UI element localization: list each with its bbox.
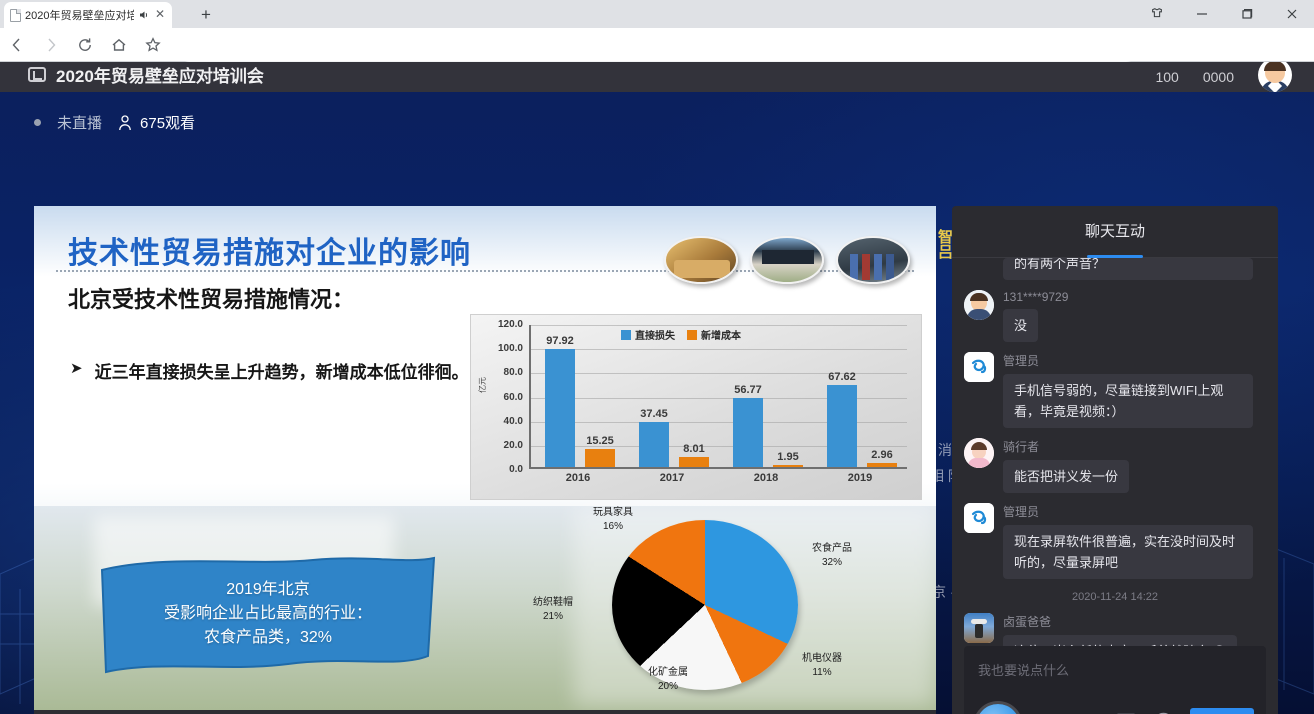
- bar-chart-group: 56.771.952018: [719, 325, 813, 467]
- browser-chrome: 2020年贸易壁垒应对培训会 ✕ +: [0, 0, 1314, 62]
- slide-photo-ovals: [664, 236, 910, 284]
- chat-title: 聊天互动: [952, 220, 1278, 241]
- chat-message-text: 这位，崔主任的声音，听着就踏实 😁: [1003, 635, 1237, 646]
- bar-chart-xtick: 2018: [719, 472, 813, 484]
- bar-value-label: 2.96: [871, 449, 892, 461]
- viewer-count-label: 675观看: [140, 112, 195, 133]
- pie-slice-name: 机电仪器: [776, 652, 868, 666]
- tab-close-icon[interactable]: ✕: [154, 9, 166, 21]
- minimize-button[interactable]: [1179, 0, 1224, 28]
- pie-slice-value: 21%: [510, 610, 596, 624]
- legend-item: 新增成本: [687, 327, 741, 342]
- background-badge: 智吕: [938, 230, 953, 260]
- bar-chart-bar: 37.45: [639, 422, 669, 467]
- chat-message-body: 管理员手机信号弱的，尽量链接到WIFI上观看，毕竟是视频：）: [1003, 352, 1266, 428]
- star-icon[interactable]: [136, 28, 170, 62]
- site-nav-brand[interactable]: 2020年贸易壁垒应对培训会: [28, 62, 264, 87]
- browser-toolbar: https://live.eyunbo.cn/live/53572?uin=17…: [0, 28, 1314, 62]
- bar-chart-xtick: 2017: [625, 472, 719, 484]
- pie-slice-label: 纺织鞋帽21%: [510, 596, 596, 624]
- chat-message-author: 131****9729: [1003, 290, 1266, 304]
- pie-slice-label: 机电仪器11%: [776, 652, 868, 680]
- chat-message-author: 管理员: [1003, 352, 1266, 369]
- bar-chart-ytick: 0.0: [483, 464, 523, 475]
- pie-slice-value: 20%: [622, 680, 714, 694]
- presentation-slide: 技术性贸易措施对企业的影响 北京受技术性贸易措施情况： ➤ 近三年直接损失呈上升…: [34, 206, 936, 710]
- slide-subtitle: 北京受技术性贸易措施情况：: [68, 282, 354, 314]
- bar-chart-bar: 97.92: [545, 349, 575, 467]
- chat-message-text: 能否把讲义发一份: [1003, 460, 1129, 493]
- bar-chart-legend: 直接损失新增成本: [621, 327, 741, 342]
- chat-message-list[interactable]: 的有两个声音？ 131****9729没管理员手机信号弱的，尽量链接到WIFI上…: [952, 258, 1278, 646]
- admin-avatar-logo-icon[interactable]: [964, 503, 994, 533]
- chat-message-body: 131****9729没: [1003, 290, 1266, 342]
- chat-message-body: 管理员现在录屏软件很普遍，实在没时间及时听的，尽量录屏吧: [1003, 503, 1266, 579]
- page-favicon-icon: [10, 9, 21, 22]
- interior-photo-icon: [664, 236, 738, 284]
- clipped-message: 的有两个声音？: [1003, 258, 1253, 280]
- people-photo-icon: [836, 236, 910, 284]
- viewer-count: 675观看: [118, 112, 195, 133]
- person-icon: [118, 115, 132, 131]
- admin-avatar-logo-icon[interactable]: [964, 352, 994, 382]
- pie-slice-value: 11%: [776, 666, 868, 680]
- bar-value-label: 56.77: [734, 384, 762, 396]
- pie-chart: 农食产品32%机电仪器11%化矿金属20%纺织鞋帽21%玩具家具16%: [504, 506, 904, 706]
- bar-chart-bar: 8.01: [679, 457, 709, 467]
- slide-title: 技术性贸易措施对企业的影响: [68, 228, 471, 272]
- chat-timestamp: 2020-11-24 14:22: [964, 591, 1266, 603]
- chat-message: 131****9729没: [964, 290, 1266, 342]
- user-avatar-photo-icon[interactable]: [964, 613, 994, 643]
- pie-slice-name: 玩具家具: [570, 506, 656, 520]
- bar-chart-group: 97.9215.252016: [531, 325, 625, 467]
- chat-message-body: 骑行者能否把讲义发一份: [1003, 438, 1266, 493]
- bar-value-label: 15.25: [586, 435, 614, 447]
- player-control-bar[interactable]: 手机观看: [34, 710, 936, 714]
- chat-message-author: 卤蛋爸爸: [1003, 613, 1266, 630]
- new-tab-button[interactable]: +: [196, 5, 216, 25]
- bar-chart-xtick: 2019: [813, 472, 907, 484]
- chat-message-text: 现在录屏软件很普遍，实在没时间及时听的，尽量录屏吧: [1003, 525, 1253, 579]
- forward-icon[interactable]: [34, 28, 68, 62]
- pie-slice-label: 化矿金属20%: [622, 666, 714, 694]
- bar-chart-plot: 97.9215.25201637.458.01201756.771.952018…: [529, 325, 907, 469]
- live-status-bar: 未直播 675观看: [34, 112, 195, 133]
- bar-chart-bar: 67.62: [827, 385, 857, 467]
- live-status-label: 未直播: [57, 112, 102, 133]
- bar-value-label: 67.62: [828, 371, 856, 383]
- legend-swatch: [621, 330, 631, 340]
- pie-slice-label: 农食产品32%: [786, 542, 878, 570]
- browser-tab[interactable]: 2020年贸易壁垒应对培训会 ✕: [4, 2, 172, 28]
- bar-chart-bar: 2.96: [867, 463, 897, 467]
- countdown-timer: 77:45: [976, 704, 1020, 714]
- back-icon[interactable]: [0, 28, 34, 62]
- bullet-arrow-icon: ➤: [70, 358, 83, 388]
- bar-chart-bar: 1.95: [773, 465, 803, 467]
- offline-dot-icon: [34, 119, 41, 126]
- chat-input-placeholder: 我也要说点什么: [978, 660, 1069, 679]
- banner-text: 2019年北京 受影响企业占比最高的行业： 农食产品类，32%: [98, 578, 438, 650]
- speaker-icon[interactable]: [138, 9, 150, 21]
- chat-header: 聊天互动: [952, 206, 1278, 258]
- bar-chart-group: 67.622.962019: [813, 325, 907, 467]
- pie-slice-label: 玩具家具16%: [570, 506, 656, 534]
- bar-chart-ytick: 40.0: [483, 416, 523, 427]
- screenshot-root: 2020年贸易壁垒应对培训会 ✕ +: [0, 0, 1314, 714]
- bar-chart-xtick: 2016: [531, 472, 625, 484]
- home-icon[interactable]: [102, 28, 136, 62]
- site-nav-metric-b: 0000: [1203, 69, 1234, 85]
- browser-titlebar: 2020年贸易壁垒应对培训会 ✕ +: [0, 0, 1314, 28]
- chat-message: 骑行者能否把讲义发一份: [964, 438, 1266, 493]
- site-logo-icon: [28, 67, 46, 82]
- legend-label: 直接损失: [635, 327, 675, 342]
- chat-panel: 聊天互动 的有两个声音？ 131****9729没管理员手机信号弱的，尽量链接到…: [952, 206, 1278, 714]
- slide-bullet: ➤ 近三年直接损失呈上升趋势，新增成本低位徘徊。: [70, 358, 470, 388]
- chat-message-text: 手机信号弱的，尽量链接到WIFI上观看，毕竟是视频：）: [1003, 374, 1253, 428]
- slide-banner: 2019年北京 受影响企业占比最高的行业： 农食产品类，32%: [98, 552, 438, 680]
- pie-slice-name: 纺织鞋帽: [510, 596, 596, 610]
- video-player[interactable]: 技术性贸易措施对企业的影响 北京受技术性贸易措施情况： ➤ 近三年直接损失呈上升…: [34, 206, 936, 714]
- bar-chart: 亿元 120.0100.080.060.040.020.00.0 97.9215…: [470, 314, 922, 500]
- close-window-button[interactable]: [1269, 0, 1314, 28]
- site-top-nav: 2020年贸易壁垒应对培训会 100 0000: [0, 62, 1314, 92]
- site-nav-right: 100 0000: [1155, 62, 1292, 92]
- bar-value-label: 37.45: [640, 408, 668, 420]
- reload-icon[interactable]: [68, 28, 102, 62]
- banner-line-1: 2019年北京: [98, 578, 438, 602]
- chat-message-body: 卤蛋爸爸这位，崔主任的声音，听着就踏实 😁: [1003, 613, 1266, 646]
- pie-slice-value: 32%: [786, 556, 878, 570]
- collections-icon[interactable]: [1134, 0, 1179, 28]
- chat-message-author: 管理员: [1003, 503, 1266, 520]
- banner-line-3: 农食产品类，32%: [98, 626, 438, 650]
- site-nav-title: 2020年贸易壁垒应对培训会: [56, 62, 264, 87]
- banner-line-2: 受影响企业占比最高的行业：: [98, 602, 438, 626]
- bar-value-label: 97.92: [546, 335, 574, 347]
- window-controls: [1134, 0, 1314, 28]
- background-page-text-a: 消: [938, 440, 952, 460]
- chat-message: 管理员现在录屏软件很普遍，实在没时间及时听的，尽量录屏吧: [964, 503, 1266, 579]
- user-avatar-boy-icon[interactable]: [964, 290, 994, 320]
- user-avatar-girl-icon[interactable]: [964, 438, 994, 468]
- bar-chart-ytick: 100.0: [483, 343, 523, 354]
- pie-slice-value: 16%: [570, 520, 656, 534]
- pie-slice-name: 农食产品: [786, 542, 878, 556]
- bar-chart-ytick: 60.0: [483, 392, 523, 403]
- bar-chart-bar: 15.25: [585, 449, 615, 467]
- site-nav-metric-a: 100: [1155, 69, 1178, 85]
- site-page: 消 相 际 京 · 智吕 2020年贸易壁垒应对培训会 100 0000 未直播: [0, 62, 1314, 714]
- chat-message-author: 骑行者: [1003, 438, 1266, 455]
- building-photo-icon: [750, 236, 824, 284]
- bar-value-label: 8.01: [683, 443, 704, 455]
- bar-chart-ytick: 20.0: [483, 440, 523, 451]
- legend-item: 直接损失: [621, 327, 675, 342]
- slide-bullet-text: 近三年直接损失呈上升趋势，新增成本低位徘徊。: [95, 358, 469, 388]
- legend-label: 新增成本: [701, 327, 741, 342]
- bar-chart-ytick: 80.0: [483, 367, 523, 378]
- legend-swatch: [687, 330, 697, 340]
- chat-message-text: 没: [1003, 309, 1038, 342]
- chat-input-area[interactable]: 我也要说点什么 77:45 发送: [964, 646, 1266, 714]
- send-button[interactable]: 发送: [1190, 708, 1254, 714]
- tab-title: 2020年贸易壁垒应对培训会: [25, 7, 134, 23]
- bar-chart-bar: 56.77: [733, 398, 763, 467]
- chat-input-actions: 发送: [1115, 708, 1254, 714]
- chat-message: 卤蛋爸爸这位，崔主任的声音，听着就踏实 😁: [964, 613, 1266, 646]
- avatar[interactable]: [1258, 62, 1292, 92]
- pie-chart-disc: [612, 520, 798, 690]
- bar-chart-group: 37.458.012017: [625, 325, 719, 467]
- pie-slice-name: 化矿金属: [622, 666, 714, 680]
- bar-chart-ytick: 120.0: [483, 319, 523, 330]
- maximize-button[interactable]: [1224, 0, 1269, 28]
- bar-value-label: 1.95: [777, 451, 798, 463]
- chat-message: 管理员手机信号弱的，尽量链接到WIFI上观看，毕竟是视频：）: [964, 352, 1266, 428]
